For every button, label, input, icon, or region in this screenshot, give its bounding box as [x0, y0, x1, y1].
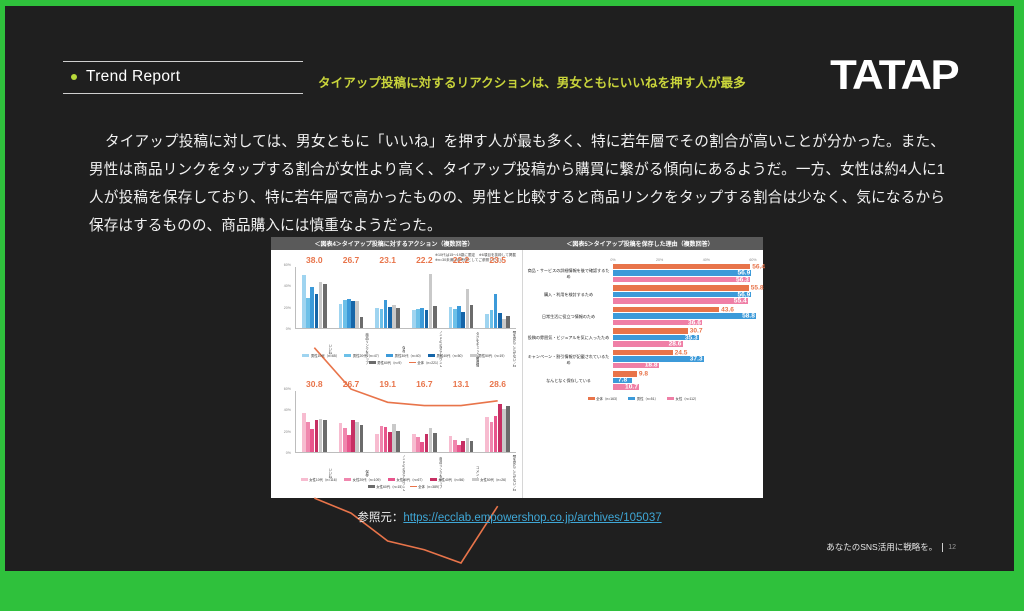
y-tick: 0%: [286, 451, 291, 455]
data-label: 26.7: [343, 379, 360, 389]
y-tick: 40%: [284, 408, 291, 412]
x-tick: 0%: [610, 258, 615, 262]
figure4-male-chart: ※10代は15～19歳に限定 ※6項目を抜粋して掲載 ※n=30未満は参考値とし…: [273, 253, 520, 371]
legend-label: 全体（n=221）: [417, 360, 440, 365]
border-bottom: [0, 571, 1024, 576]
data-label: 55.4: [734, 298, 747, 305]
bar: [613, 328, 688, 333]
legend-item: 男性20代（n=47）: [344, 353, 381, 358]
data-label: 16.7: [416, 379, 433, 389]
figure4-male-groups: 38.026.723.122.222.223.5: [296, 267, 516, 328]
bar-row: キャンペーン・割引情報が記載されているため24.537.318.8: [527, 350, 759, 369]
bar: [416, 437, 420, 452]
figure4-male-legend: 男性10代（n=65）男性20代（n=47）男性30代（n=40）男性40代（n…: [291, 353, 518, 365]
bar-wrapper: 9.8: [613, 371, 759, 376]
bar: [449, 307, 453, 328]
data-label: 10.7: [625, 383, 638, 390]
bar-wrapper: 28.6: [613, 341, 759, 346]
legend-label: 男性10代（n=65）: [311, 353, 339, 358]
data-label: 36.6: [688, 319, 701, 326]
legend-item: 女性（n=112）: [667, 396, 698, 401]
figure4-female-legend: 女性10代（n=116）女性20代（n=109）女性30代（n=67）女性40代…: [291, 477, 518, 489]
legend-swatch: [368, 485, 375, 488]
bar: [380, 309, 384, 328]
y-tick: 20%: [284, 430, 291, 434]
source-label: 参照元：: [357, 512, 403, 524]
bar: [384, 427, 388, 452]
bar-wrapper: 24.5: [613, 350, 759, 355]
bar: [613, 292, 751, 297]
y-tick: 60%: [284, 387, 291, 391]
legend-label: 女性50代（n=26）: [480, 477, 508, 482]
bar: [306, 422, 310, 453]
data-label: 23.1: [379, 255, 396, 265]
legend-label: 男性60代（n=9）: [377, 360, 403, 365]
border-right: [1014, 0, 1024, 576]
bar: [506, 406, 510, 452]
bar: [392, 305, 396, 328]
legend-label: 女性（n=112）: [675, 396, 698, 401]
legend-swatch: [386, 354, 393, 357]
bar: [343, 428, 347, 452]
bar: [453, 440, 457, 452]
bar: [347, 299, 351, 328]
legend-label: 女性10代（n=116）: [309, 477, 339, 482]
figure4-female-plot: 30.826.719.116.713.128.6: [295, 391, 516, 453]
bar: [433, 306, 437, 328]
figure4-male-yaxis: 0%20%40%60%: [273, 265, 293, 329]
legend-label: 男性40代（n=50）: [436, 353, 464, 358]
data-label: 24.5: [675, 349, 688, 356]
bar-wrapper: 55.8: [613, 285, 759, 290]
bar-row: 購入・利用を検討するため55.856.955.4: [527, 285, 759, 304]
bar-wrapper: 43.6: [613, 307, 759, 312]
bar-group: 30.8: [296, 391, 333, 452]
figure4-female-chart: 0%20%40%60% 30.826.719.116.713.128.6 いいね…: [273, 377, 520, 495]
bar: [319, 282, 323, 328]
legend-item: 全体（n=221）: [409, 360, 441, 365]
figure4-female-yaxis: 0%20%40%60%: [273, 389, 293, 453]
bar-row: なんとなく保存している9.87.810.7: [527, 371, 759, 390]
bar: [310, 287, 314, 328]
legend-swatch: [472, 478, 479, 481]
legend-label: 女性40代（n=56）: [438, 477, 466, 482]
bar: [343, 300, 347, 328]
legend-label: 男性20代（n=47）: [353, 353, 381, 358]
figure5-legend: 全体（n=163）男性（n=51）女性（n=112）: [527, 396, 759, 401]
bar: [466, 289, 470, 328]
bar: [502, 409, 506, 452]
legend-swatch: [667, 397, 674, 400]
bar: [490, 310, 494, 328]
bar-row: 商品・サービスの詳細情報を後で確認するため56.456.956.3: [527, 264, 759, 283]
bar-group: 23.5: [479, 267, 516, 328]
y-tick: 40%: [284, 284, 291, 288]
bar-group: 23.1: [369, 267, 406, 328]
data-label: 37.3: [690, 355, 703, 362]
footer-divider: [942, 543, 943, 552]
body-paragraph: タイアップ投稿に対しては、男女ともに「いいね」を押す人が最も多く、特に若年層でそ…: [89, 128, 945, 240]
legend-label: 男性50代（n=19）: [478, 353, 506, 358]
legend-swatch: [628, 397, 635, 400]
legend-label: 女性60代（n=15）: [376, 484, 404, 489]
bar-group: 26.7: [333, 267, 370, 328]
legend-swatch: [369, 361, 376, 364]
bar-wrapper: 55.4: [613, 298, 759, 303]
bar: [355, 422, 359, 453]
data-label: 30.8: [306, 379, 323, 389]
header-eyebrow-block: Trend Report: [63, 61, 303, 94]
bar-wrapper: 10.7: [613, 384, 759, 389]
bar: [613, 264, 750, 269]
bar: [351, 301, 355, 328]
bar: [485, 314, 489, 328]
bar: [306, 298, 310, 329]
bullet-dot-icon: [71, 74, 77, 80]
category-label: キャンペーン・割引情報が記載されているため: [527, 354, 613, 366]
y-tick: 0%: [286, 327, 291, 331]
data-label: 19.1: [379, 379, 396, 389]
bar: [323, 284, 327, 328]
legend-item: 男性50代（n=19）: [470, 353, 507, 358]
footer-tagline: あなたのSNS活用に戦略を。: [826, 541, 937, 553]
legend-item: 女性50代（n=26）: [472, 477, 509, 482]
data-label: 9.8: [639, 370, 648, 377]
bar: [498, 313, 502, 328]
legend-swatch: [430, 478, 437, 481]
legend-swatch: [410, 486, 417, 487]
chart-right-title: ＜図表5＞タイアップ投稿を保存した理由（複数回答）: [517, 239, 763, 248]
x-tick: 20%: [656, 258, 663, 262]
category-label: 商品・サービスの詳細情報を後で確認するため: [527, 268, 613, 280]
bar: [388, 307, 392, 328]
legend-item: 女性10代（n=116）: [301, 477, 340, 482]
data-label: 23.5: [489, 255, 506, 265]
bar: [425, 434, 429, 452]
legend-item: 女性40代（n=56）: [430, 477, 467, 482]
bar: [425, 310, 429, 328]
bar: [375, 434, 379, 452]
data-label: 35.3: [685, 334, 698, 341]
legend-swatch: [428, 354, 435, 357]
x-tick: 60%: [749, 258, 756, 262]
bar: [449, 436, 453, 452]
figure4-female-groups: 30.826.719.116.713.128.6: [296, 391, 516, 452]
bar: [315, 294, 319, 328]
slide-root: Trend Report タイアップ投稿に対するリアクションは、男女ともにいいね…: [0, 0, 1024, 576]
bar-wrapper: 35.3: [613, 335, 759, 340]
category-label: なんとなく保存している: [527, 378, 613, 384]
bar: [470, 305, 474, 328]
legend-label: 全体（n=163）: [596, 396, 619, 401]
source-link[interactable]: https://ecclab.empowershop.co.jp/archive…: [403, 512, 661, 524]
legend-label: 全体（n=389）: [418, 484, 441, 489]
bar: [613, 298, 748, 303]
bar: [412, 310, 416, 328]
bar-cluster: 55.856.955.4: [613, 285, 759, 304]
header-eyebrow-label: Trend Report: [86, 68, 180, 86]
bar: [613, 277, 750, 282]
bar: [420, 442, 424, 452]
bar: [380, 426, 384, 452]
bar: [453, 309, 457, 328]
bar-wrapper: 56.3: [613, 277, 759, 282]
bar: [461, 441, 465, 452]
legend-swatch: [301, 478, 308, 481]
legend-label: 女性30代（n=67）: [396, 477, 424, 482]
bar: [457, 306, 461, 328]
bar: [315, 420, 319, 452]
bar-group: 19.1: [369, 391, 406, 452]
bar-wrapper: 56.9: [613, 292, 759, 297]
bar: [351, 420, 355, 452]
chart-panel: ＜図表4＞タイアップ投稿に対するアクション（複数回答） ＜図表5＞タイアップ投稿…: [271, 237, 763, 498]
data-label: 55.8: [751, 285, 764, 292]
bar: [502, 319, 506, 328]
bar: [429, 274, 433, 328]
bar: [420, 308, 424, 328]
category-label: 購入・利用を検討するため: [527, 292, 613, 298]
bar: [360, 317, 364, 328]
bar: [433, 433, 437, 452]
bar: [375, 308, 379, 328]
data-label: 22.2: [416, 255, 433, 265]
bar-cluster: 30.735.328.6: [613, 328, 759, 347]
bar: [384, 300, 388, 328]
bar: [347, 435, 351, 452]
bar: [396, 431, 400, 452]
footer: あなたのSNS活用に戦略を。 12: [826, 541, 956, 553]
chart-left-title: ＜図表4＞タイアップ投稿に対するアクション（複数回答）: [271, 239, 517, 248]
figure5-container: 0%20%40%60% 商品・サービスの詳細情報を後で確認するため56.456.…: [523, 250, 763, 498]
bar: [461, 312, 465, 328]
data-label: 43.6: [721, 306, 734, 313]
bar: [392, 424, 396, 452]
bar: [613, 270, 751, 275]
figure5-rows: 商品・サービスの詳細情報を後で確認するため56.456.956.3購入・利用を検…: [527, 254, 759, 391]
legend-item: 男性（n=51）: [628, 396, 658, 401]
data-label: 38.0: [306, 255, 323, 265]
bar-group: 28.6: [479, 391, 516, 452]
x-tick: 40%: [703, 258, 710, 262]
legend-item: 全体（n=389）: [410, 484, 442, 489]
bar-cluster: 56.456.956.3: [613, 264, 759, 283]
header-subtitle: タイアップ投稿に対するリアクションは、男女ともにいいねを押す人が最多: [318, 72, 746, 91]
bar-wrapper: 36.6: [613, 320, 759, 325]
bar: [339, 423, 343, 452]
data-label: 18.8: [645, 362, 658, 369]
bar: [339, 304, 343, 328]
data-label: 58.8: [742, 313, 755, 320]
bar-wrapper: 18.8: [613, 363, 759, 368]
bar-row: 投稿の雰囲気・ビジュアルを気に入ったため30.735.328.6: [527, 328, 759, 347]
legend-swatch: [588, 397, 595, 400]
legend-item: 女性60代（n=15）: [368, 484, 405, 489]
bar: [310, 429, 314, 452]
legend-item: 男性40代（n=50）: [428, 353, 465, 358]
legend-label: 男性（n=51）: [637, 396, 658, 401]
slide-inner: Trend Report タイアップ投稿に対するリアクションは、男女ともにいいね…: [5, 6, 1014, 571]
bar-wrapper: 58.8: [613, 313, 759, 318]
bar: [485, 417, 489, 452]
legend-item: 男性60代（n=9）: [369, 360, 404, 365]
bar-group: 22.2: [443, 267, 480, 328]
bar: [466, 438, 470, 452]
bar: [396, 308, 400, 328]
bar: [429, 428, 433, 452]
bar-cluster: 9.87.810.7: [613, 371, 759, 390]
bar: [494, 416, 498, 452]
legend-swatch: [409, 362, 416, 363]
legend-label: 女性20代（n=109）: [353, 477, 383, 482]
bar: [613, 285, 749, 290]
bar: [302, 275, 306, 328]
header-rule-bottom: [63, 93, 303, 94]
data-label: 28.6: [669, 341, 682, 348]
data-label: 22.2: [453, 255, 470, 265]
data-label: 13.1: [453, 379, 470, 389]
bar-cluster: 43.658.836.6: [613, 307, 759, 326]
bar: [388, 432, 392, 452]
legend-item: 女性20代（n=109）: [344, 477, 383, 482]
bar-cluster: 24.537.318.8: [613, 350, 759, 369]
bar: [506, 316, 510, 328]
bar: [613, 307, 719, 312]
legend-item: 男性10代（n=65）: [302, 353, 339, 358]
bar-wrapper: 7.8: [613, 378, 759, 383]
bar: [498, 404, 502, 452]
bar: [302, 413, 306, 452]
legend-item: 男性30代（n=40）: [386, 353, 423, 358]
figure4-male-plot: 38.026.723.122.222.223.5: [295, 267, 516, 329]
body-paragraph-text: タイアップ投稿に対しては、男女ともに「いいね」を押す人が最も多く、特に若年層でそ…: [89, 134, 945, 234]
bar: [323, 420, 327, 452]
bar-row: 日常生活に役立つ情報のため43.658.836.6: [527, 307, 759, 326]
legend-swatch: [388, 478, 395, 481]
chart-panel-titlebar: ＜図表4＞タイアップ投稿に対するアクション（複数回答） ＜図表5＞タイアップ投稿…: [271, 237, 763, 250]
legend-item: 全体（n=163）: [588, 396, 620, 401]
legend-swatch: [470, 354, 477, 357]
bar: [613, 371, 637, 376]
bar-group: 22.2: [406, 267, 443, 328]
bar: [355, 301, 359, 328]
figure5-chart: 0%20%40%60% 商品・サービスの詳細情報を後で確認するため56.456.…: [527, 254, 759, 480]
data-label: 28.6: [489, 379, 506, 389]
bar-wrapper: 37.3: [613, 356, 759, 361]
bar: [416, 309, 420, 328]
source-line: 参照元：https://ecclab.empowershop.co.jp/arc…: [5, 509, 1014, 525]
bar: [613, 313, 756, 318]
bar-wrapper: 56.9: [613, 270, 759, 275]
bar: [470, 441, 474, 452]
legend-swatch: [344, 478, 351, 481]
bar-group: 38.0: [296, 267, 333, 328]
bar: [457, 445, 461, 452]
legend-swatch: [344, 354, 351, 357]
data-label: 26.7: [343, 255, 360, 265]
y-tick: 20%: [284, 306, 291, 310]
data-label: 56.4: [752, 263, 765, 270]
bar-wrapper: 56.4: [613, 264, 759, 269]
bar-wrapper: 30.7: [613, 328, 759, 333]
header-eyebrow-row: Trend Report: [63, 62, 303, 93]
bar: [360, 425, 364, 452]
data-label: 56.3: [736, 276, 749, 283]
category-label: 投稿の雰囲気・ビジュアルを気に入ったため: [527, 335, 613, 341]
category-label: 日常生活に役立つ情報のため: [527, 314, 613, 320]
figure4-container: ※10代は15～19歳に限定 ※6項目を抜粋して掲載 ※n=30未満は参考値とし…: [271, 250, 523, 498]
footer-page-number: 12: [948, 544, 956, 551]
brand-logo: TATAP: [830, 54, 958, 96]
bar: [613, 350, 673, 355]
legend-swatch: [302, 354, 309, 357]
bar-group: 26.7: [333, 391, 370, 452]
bar-group: 16.7: [406, 391, 443, 452]
legend-label: 男性30代（n=40）: [395, 353, 423, 358]
y-tick: 60%: [284, 263, 291, 267]
bar: [319, 419, 323, 452]
legend-item: 女性30代（n=67）: [388, 477, 425, 482]
bar: [490, 422, 494, 453]
bar: [494, 294, 498, 328]
bar-group: 13.1: [443, 391, 480, 452]
bar: [412, 434, 416, 452]
chart-panel-body: ※10代は15～19歳に限定 ※6項目を抜粋して掲載 ※n=30未満は参考値とし…: [271, 250, 763, 498]
